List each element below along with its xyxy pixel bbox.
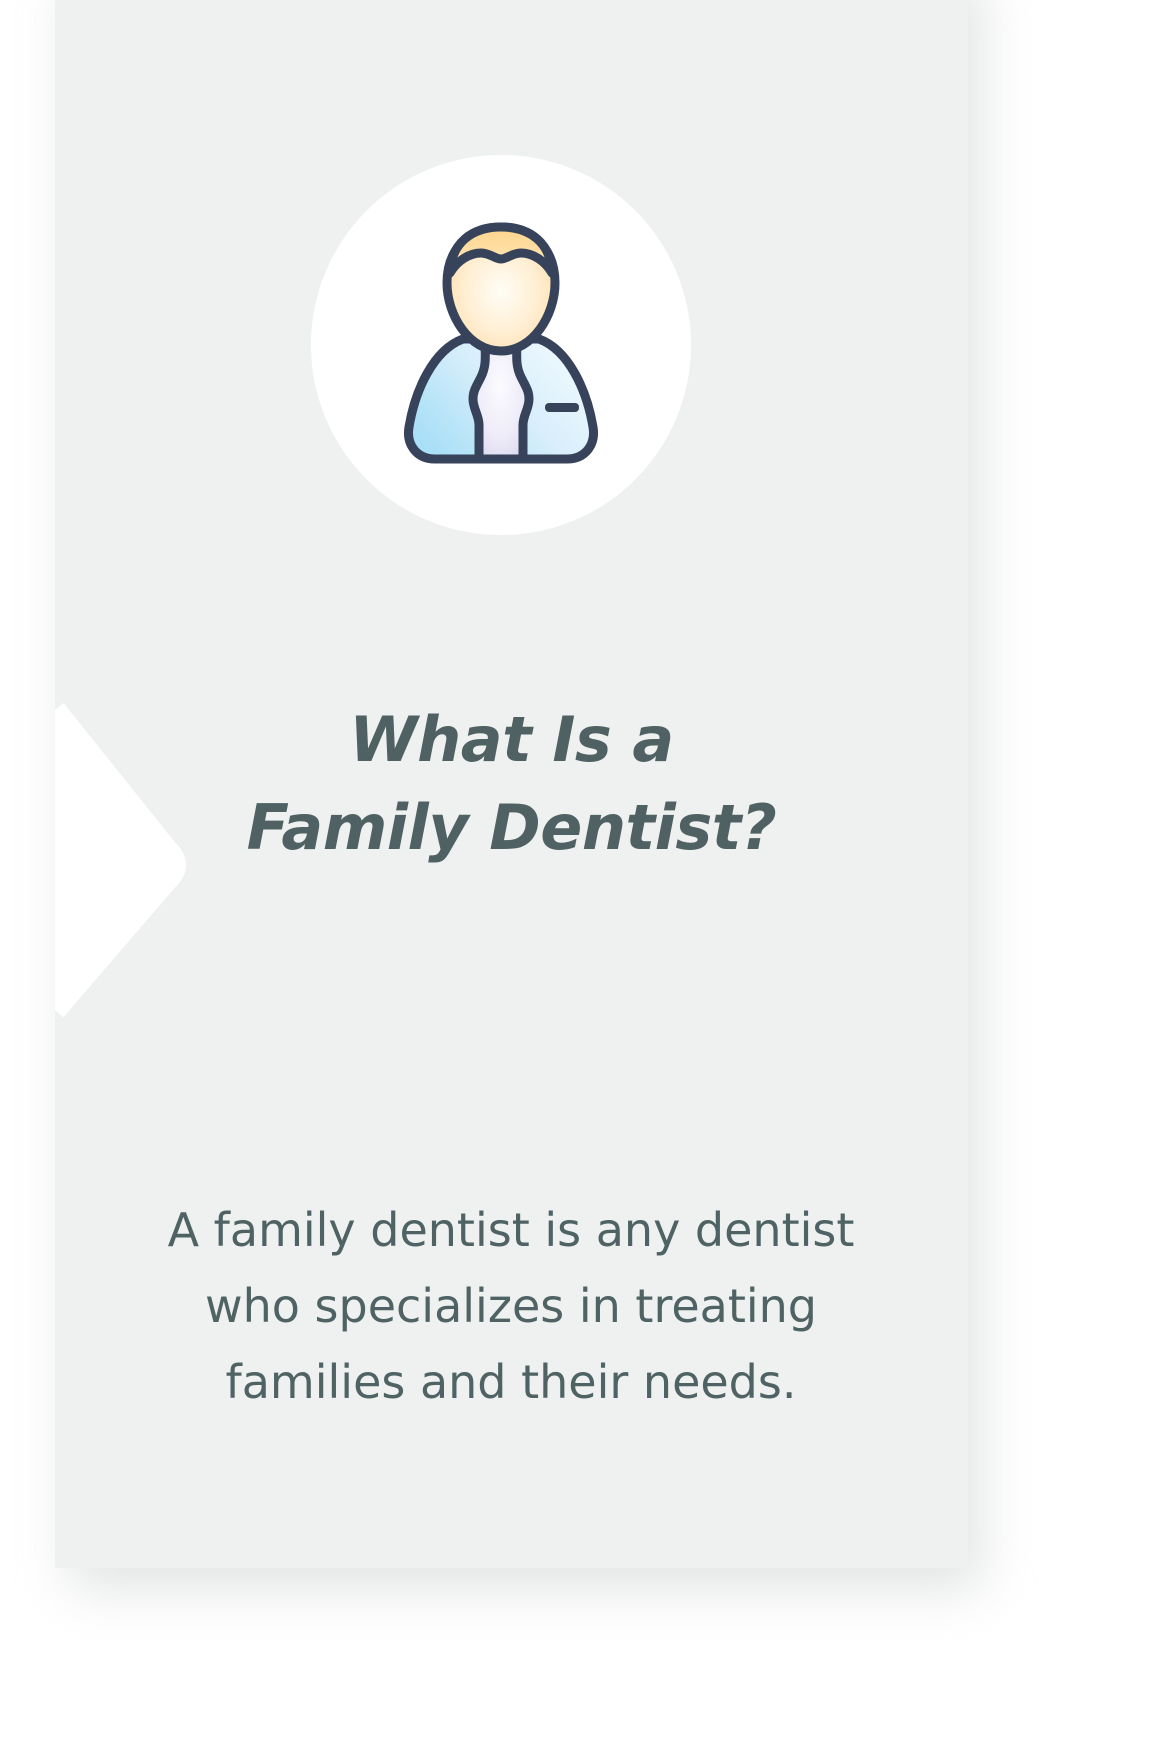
- card-content: What Is a Family Dentist? A family denti…: [55, 0, 968, 1568]
- icon-badge-circle: [311, 155, 691, 535]
- infographic-card-stage: What Is a Family Dentist? A family denti…: [0, 0, 1152, 1749]
- dentist-avatar-icon: [403, 219, 599, 471]
- page-title: What Is a Family Dentist?: [55, 696, 968, 872]
- coat-pocket-line: [545, 403, 579, 412]
- body-paragraph: A family dentist is any dentist who spec…: [111, 1192, 911, 1420]
